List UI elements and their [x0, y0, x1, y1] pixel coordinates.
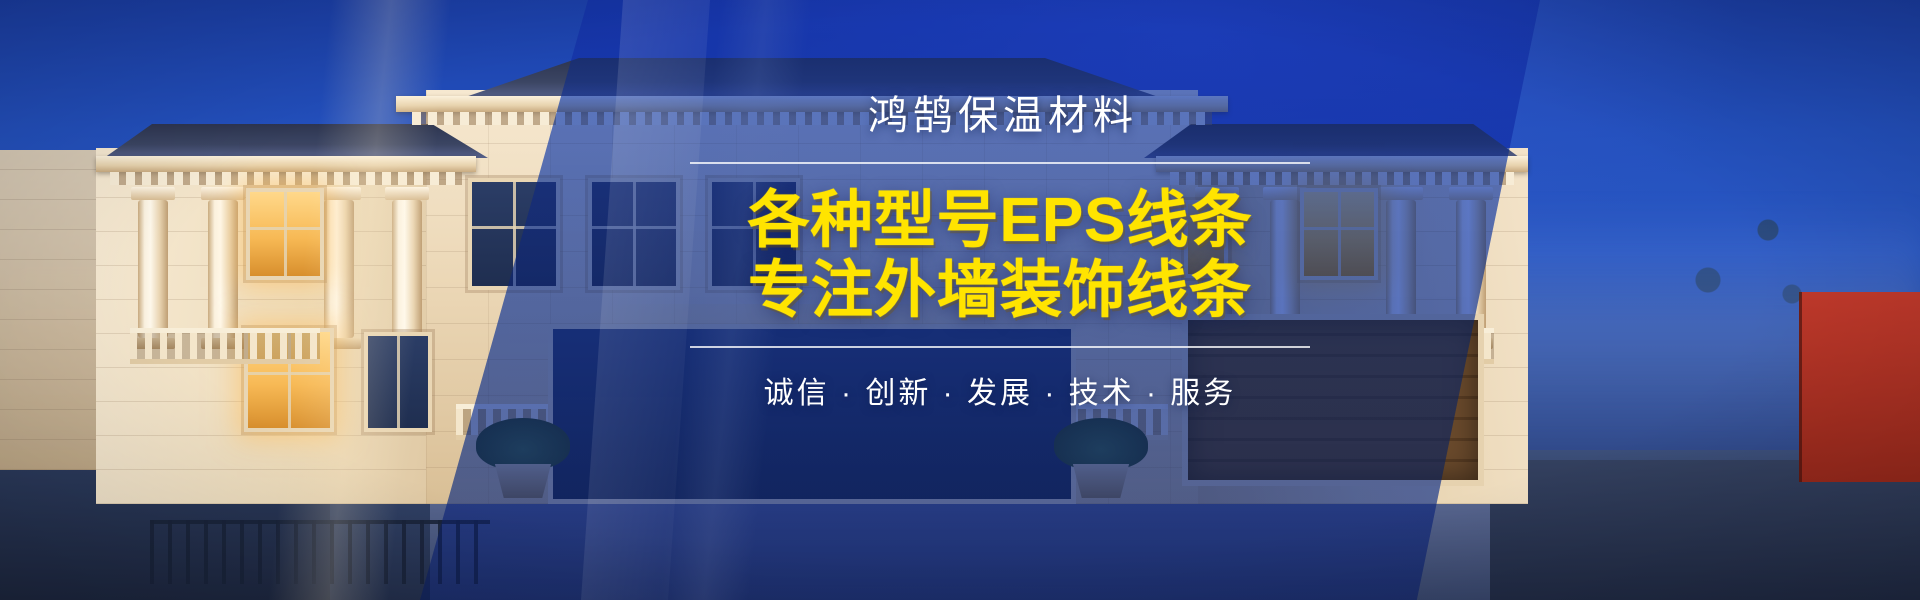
window-left-side [364, 332, 432, 432]
column-l1 [138, 200, 168, 338]
column-l3 [324, 200, 354, 338]
window-mullion [397, 336, 400, 428]
roof-left [88, 124, 488, 158]
window-mullion [284, 192, 287, 276]
tree-branches [1628, 170, 1828, 370]
banner-copy: 鸿鹄保温材料 各种型号EPS线条 专注外墙装饰线条 诚信 · 创新 · 发展 ·… [690, 96, 1310, 412]
column-l2 [208, 200, 238, 338]
cornice-left [96, 156, 476, 172]
window-transom [248, 372, 330, 375]
balustrade-left [130, 328, 320, 364]
window-transom [250, 227, 320, 230]
divider-bottom [690, 346, 1310, 348]
divider-top [690, 162, 1310, 164]
dentils-left [110, 172, 462, 185]
window-left-upper-lit [246, 188, 324, 280]
column-l4 [392, 200, 422, 338]
brand-name: 鸿鹄保温材料 [690, 96, 1310, 136]
tagline: 诚信 · 创新 · 发展 · 技术 · 服务 [690, 368, 1310, 412]
headline: 各种型号EPS线条 专注外墙装饰线条 [690, 186, 1310, 326]
hero-banner: 鸿鹄保温材料 各种型号EPS线条 专注外墙装饰线条 诚信 · 创新 · 发展 ·… [0, 0, 1920, 600]
headline-line-1: 各种型号EPS线条 [690, 186, 1310, 256]
headline-line-2: 专注外墙装饰线条 [690, 256, 1310, 326]
